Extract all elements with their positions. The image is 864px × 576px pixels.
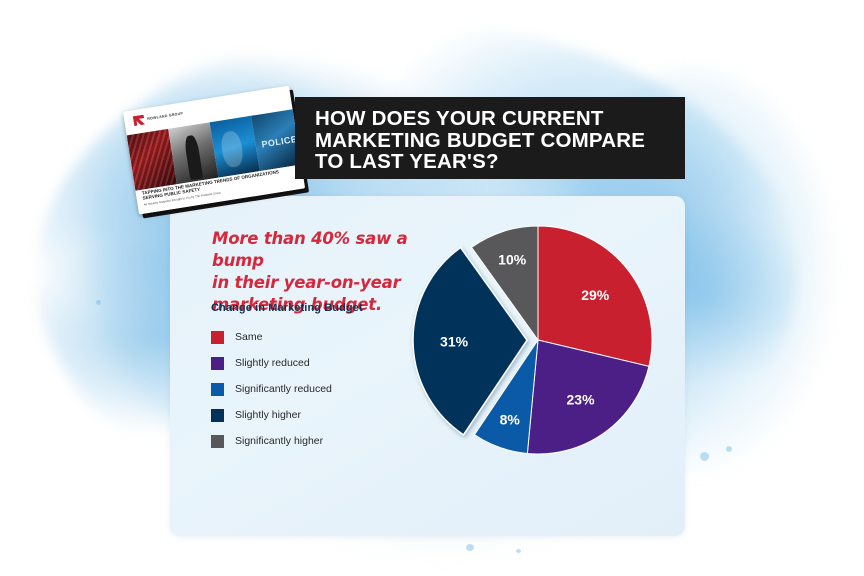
legend-item-significantly-reduced[interactable]: Significantly reduced — [211, 376, 411, 402]
logo-mark-icon — [133, 115, 145, 127]
legend-item-label: Same — [235, 331, 262, 343]
watercolor-speck — [726, 446, 732, 452]
report-cover-thumbnail[interactable]: ROWLAND GROUP TAPPING INTO THE MARKETING… — [128, 96, 308, 214]
cover-photo-police — [251, 109, 301, 171]
legend-title: Change in Marketing Budget — [211, 302, 411, 314]
legend-item-slightly-reduced[interactable]: Slightly reduced — [211, 350, 411, 376]
pie-chart-svg: 29%23%8%31%10% — [400, 205, 680, 475]
legend-rows: SameSlightly reducedSignificantly reduce… — [211, 324, 411, 454]
title-banner: HOW DOES YOUR CURRENT MARKETING BUDGET C… — [295, 97, 685, 179]
legend-item-significantly-higher[interactable]: Significantly higher — [211, 428, 411, 454]
pie-chart: 29%23%8%31%10% — [400, 205, 680, 475]
legend-item-label: Slightly reduced — [235, 357, 310, 369]
legend-item-same[interactable]: Same — [211, 324, 411, 350]
legend-swatch-icon — [211, 331, 224, 344]
legend-item-slightly-higher[interactable]: Slightly higher — [211, 402, 411, 428]
pie-slice-value-label: 10% — [498, 252, 527, 268]
pie-slice-value-label: 8% — [500, 411, 521, 427]
legend-item-label: Significantly reduced — [235, 383, 332, 395]
legend-swatch-icon — [211, 409, 224, 422]
watercolor-speck — [516, 549, 521, 553]
legend-swatch-icon — [211, 383, 224, 396]
legend-swatch-icon — [211, 357, 224, 370]
legend-item-label: Significantly higher — [235, 435, 323, 447]
pie-slice-value-label: 23% — [567, 391, 596, 407]
watercolor-speck — [700, 452, 709, 461]
rowland-group-logo: ROWLAND GROUP — [133, 108, 184, 126]
watercolor-speck — [466, 544, 474, 551]
page-title: HOW DOES YOUR CURRENT MARKETING BUDGET C… — [315, 108, 671, 173]
legend-swatch-icon — [211, 435, 224, 448]
watercolor-speck — [96, 300, 101, 305]
pie-slice-value-label: 31% — [440, 333, 469, 349]
pie-slice-value-label: 29% — [581, 287, 610, 303]
chart-legend: Change in Marketing Budget SameSlightly … — [211, 302, 411, 454]
infographic-canvas: ROWLAND GROUP TAPPING INTO THE MARKETING… — [0, 0, 864, 576]
legend-item-label: Slightly higher — [235, 409, 301, 421]
logo-wordmark: ROWLAND GROUP — [147, 111, 183, 121]
